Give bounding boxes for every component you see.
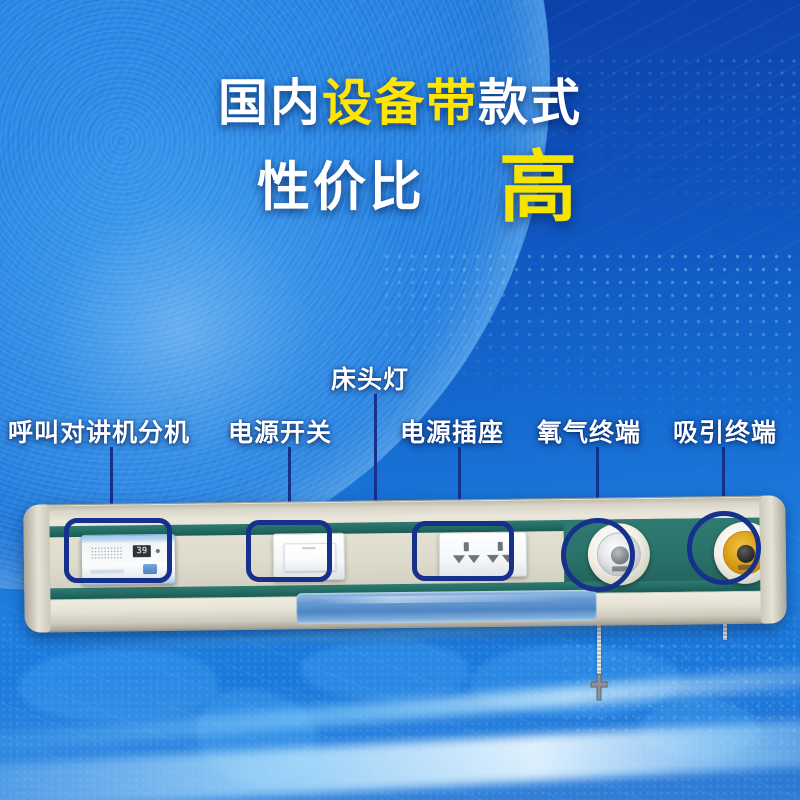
headline-block: 国内设备带款式 性价比 高: [0, 78, 800, 224]
callout-outline-power-switch: [246, 520, 332, 582]
callout-label-intercom: 呼叫对讲机分机: [8, 413, 190, 449]
headline-part-2-accent: 设备带: [322, 75, 478, 131]
headline-line-1: 国内设备带款式: [0, 78, 800, 128]
bottom-glow: [0, 680, 800, 800]
headline-value-phrase: 性价比: [257, 161, 425, 214]
callout-outline-oxygen-outlet: [561, 518, 635, 592]
product-banner: 国内设备带款式 性价比 高 呼叫对讲机分机 电源开关 床头灯 电源插座 氧气终端…: [0, 0, 800, 800]
callout-label-oxygen-outlet: 氧气终端: [537, 413, 641, 449]
callout-outline-intercom: [64, 518, 172, 583]
panel-end-cap-left: [23, 504, 51, 632]
pull-cord-weight-icon: [584, 672, 614, 702]
callout-label-suction-outlet: 吸引终端: [673, 413, 777, 449]
headline-accent-char: 高: [499, 150, 577, 224]
headline-part-3: 款式: [478, 75, 582, 131]
panel-end-cap-right: [759, 495, 787, 623]
callout-outline-suction-outlet: [687, 511, 761, 585]
headline-line-2: 性价比 高: [0, 150, 800, 224]
callout-label-power-switch: 电源开关: [228, 413, 332, 449]
callout-outline-power-socket: [412, 521, 514, 581]
headline-part-1: 国内: [218, 75, 322, 131]
halftone-dots-mid: [380, 250, 800, 440]
callout-label-power-socket: 电源插座: [400, 413, 504, 449]
callout-label-bed-lamp: 床头灯: [331, 360, 409, 396]
